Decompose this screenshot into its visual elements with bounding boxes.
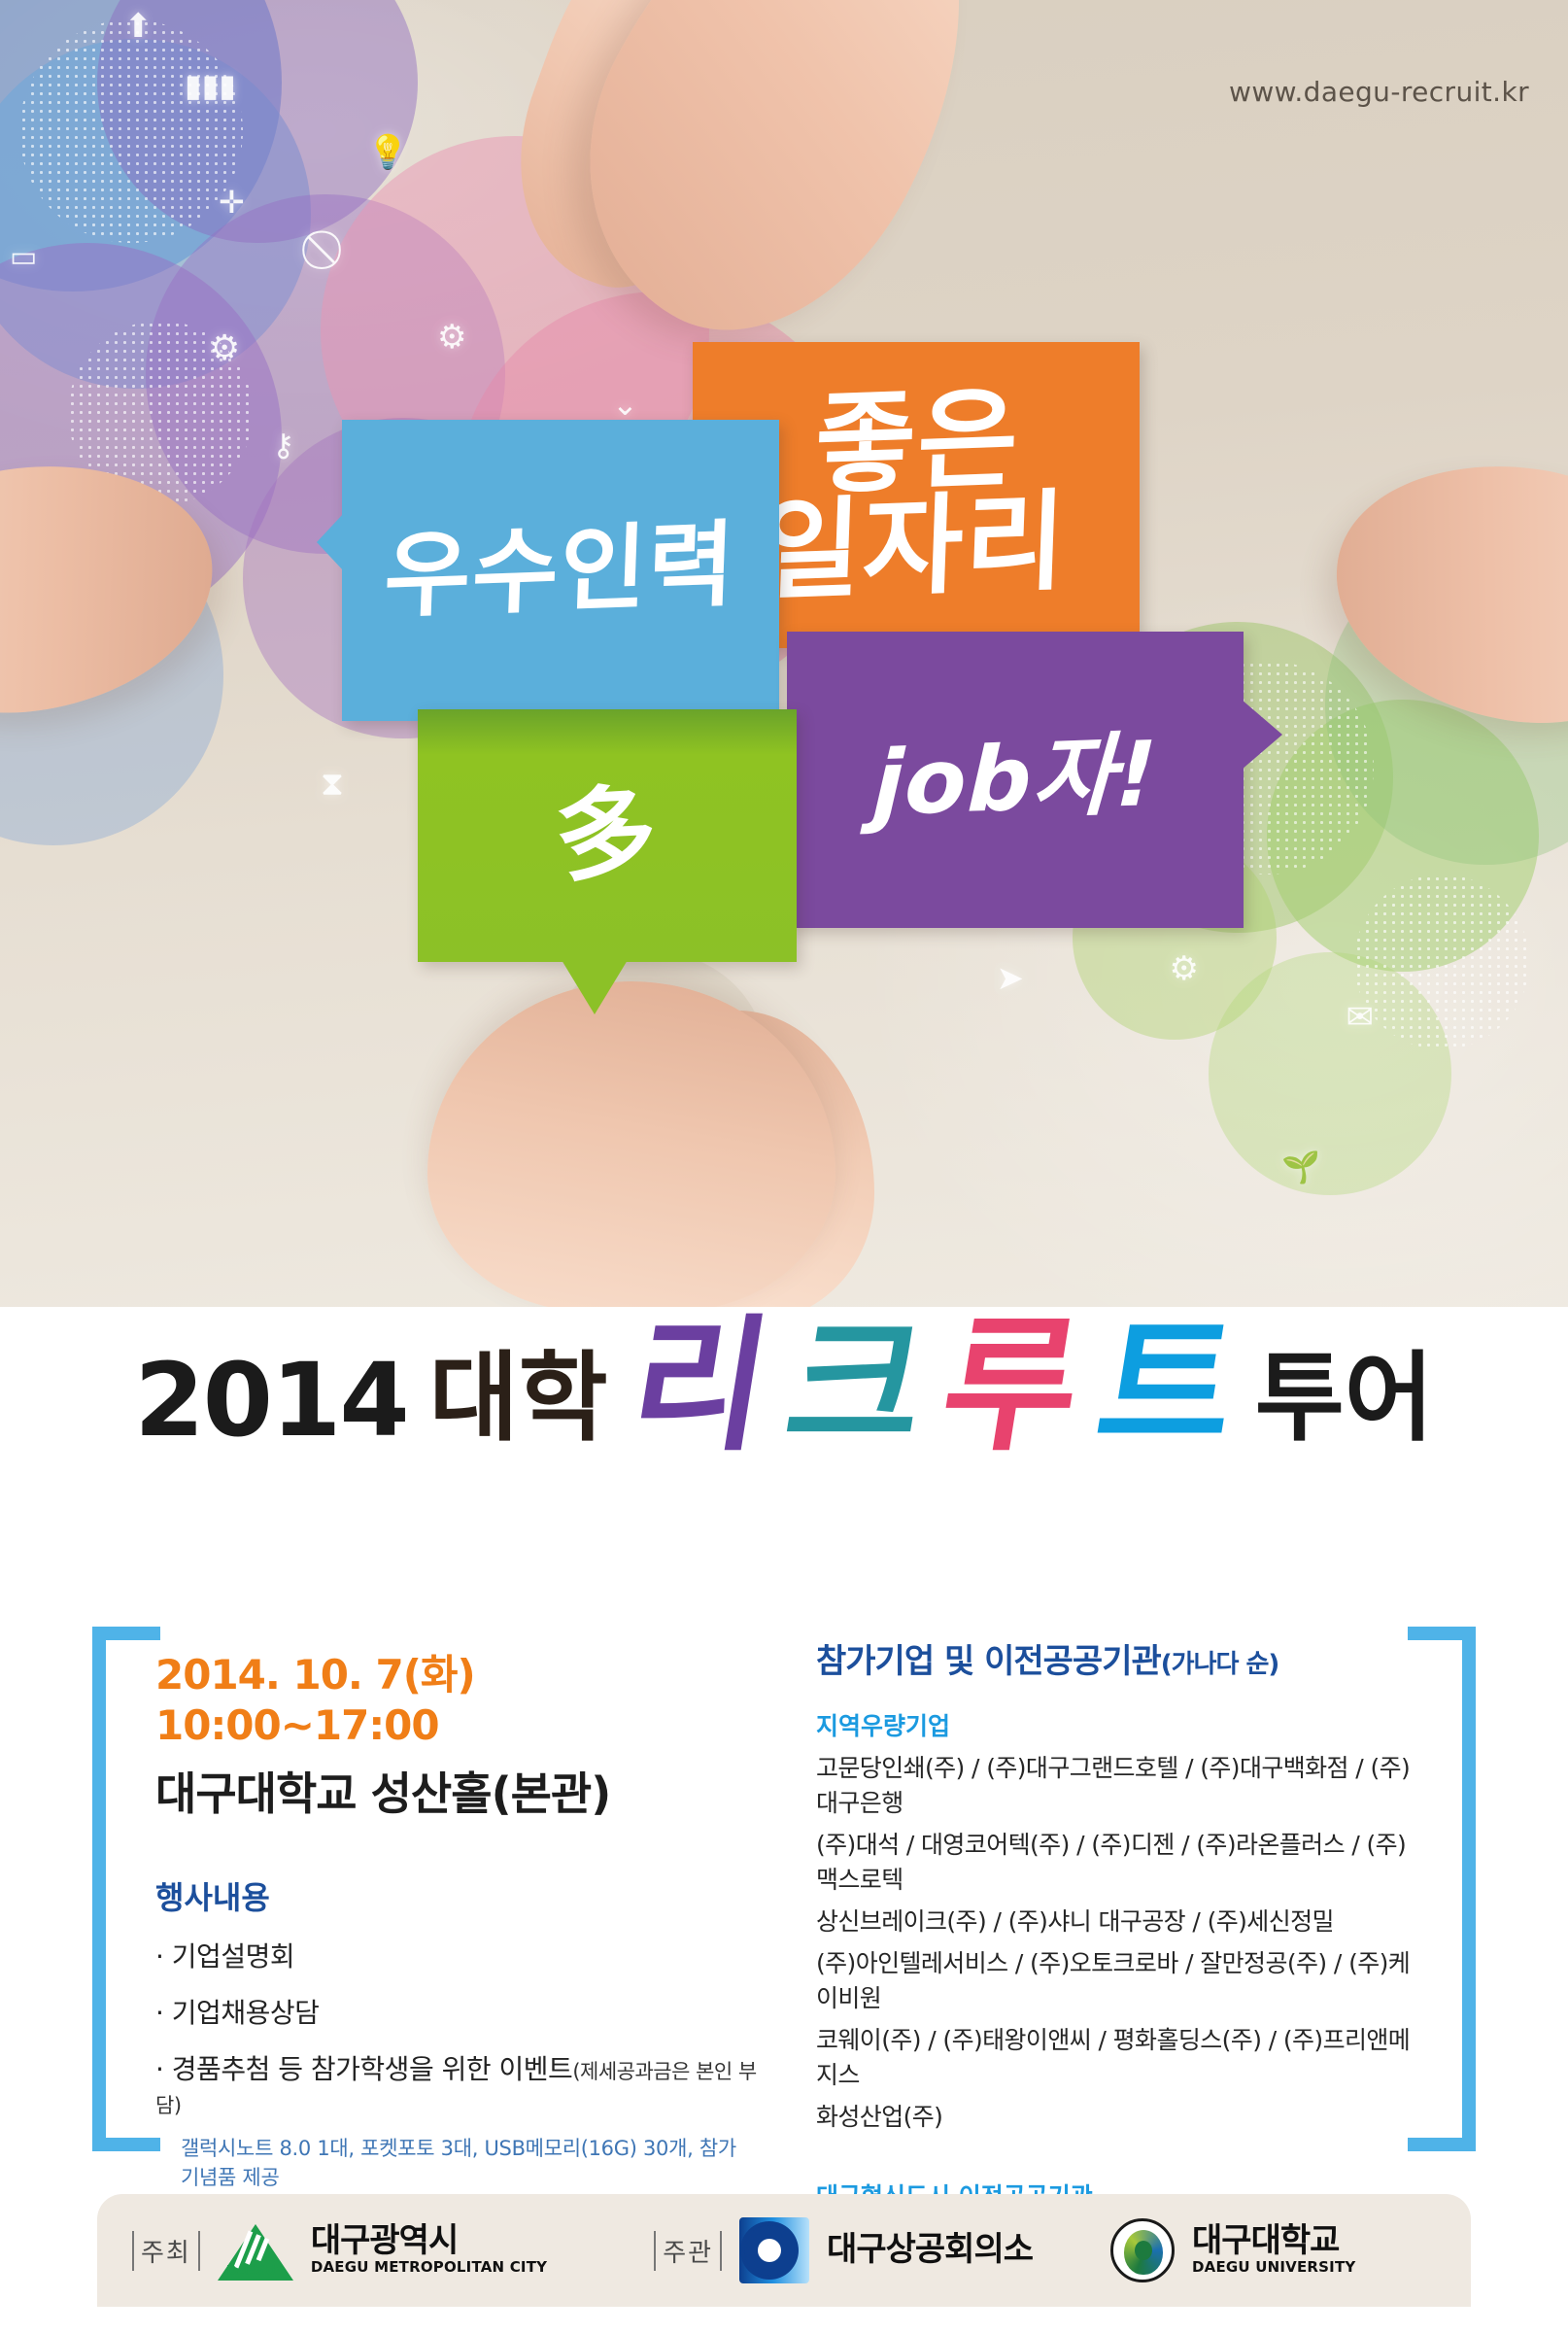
program-item-text: · 경품추첨 등 참가학생을 위한 이벤트 [155,2053,572,2085]
organizer-tag: 주관 [654,2231,722,2271]
prize-list: 갤럭시노트 8.0 1대, 포켓포토 3대, USB메모리(16G) 30개, … [181,2133,758,2191]
arrows-move-icon: ✛ [219,187,245,218]
university-name: 대구대학교 DAEGU UNIVERSITY [1192,2224,1355,2278]
program-heading: 행사내용 [155,1873,758,1918]
host-tag: 주최 [132,2231,200,2271]
host-group: 주최 DAEGU 대구광역시 DAEGU METROPOLITAN CITY [132,2220,547,2281]
battery-icon: ▭ [10,243,37,272]
title-tour: 투어 [1255,1319,1434,1459]
speech-bubble-purple: job자! [787,632,1244,928]
host-name-en: DAEGU METROPOLITAN CITY [311,2258,547,2276]
participants-heading-note: (가나다 순) [1161,1650,1279,1679]
speech-bubble-orange-text: 좋은 일자리 [759,386,1073,605]
gear-icon: ⚙ [209,330,240,365]
organizer-group: 주관 대구상공회의소 [654,2217,1033,2283]
mail-icon: ✉ [1346,1001,1375,1034]
organizer-name: 대구상공회의소 [827,2233,1033,2268]
hero-section: ⬆ ▮▮▮ 💡 ✛ ▭ ⃠ ⚙ ⚙ ⚷ ⌄ ⧗ ➤ ⚙ ✉ 🌱 www.daeg… [0,0,1568,1307]
bracket-left [92,1627,160,2151]
chevron-down-circle-icon: ⌄ [612,389,638,420]
company-group-title: 지역우량기업 [816,1707,1418,1742]
website-url[interactable]: www.daegu-recruit.kr [1229,76,1529,108]
title-char-4: 트 [1088,1314,1242,1459]
play-arrow-icon: ➤ [997,962,1025,995]
halftone-dots [1354,875,1529,1049]
leaf-icon: 🌱 [1281,1151,1320,1183]
company-line: 코웨이(주) / (주)태왕이앤씨 / 평화홀딩스(주) / (주)프리앤메지스 [816,2021,1418,2091]
sponsor-footer: 주최 DAEGU 대구광역시 DAEGU METROPOLITAN CITY 주… [97,2194,1471,2307]
gear-icon: ⚙ [437,321,466,354]
host-name-ko: 대구광역시 [311,2221,458,2260]
gear-icon: ⚙ [1170,952,1199,985]
company-line: 상신브레이크(주) / (주)샤니 대구공장 / (주)세신정밀 [816,1903,1418,1938]
poster-title: 2014 대학 리 크 루 트 투어 [0,1314,1568,1508]
hourglass-icon: ⧗ [321,768,344,801]
participants-heading: 참가기업 및 이전공공기관(가나다 순) [816,1634,1418,1682]
daegu-city-logo-icon: DAEGU [218,2220,293,2281]
title-univ: 대학 [429,1319,608,1459]
bar-chart-icon: ▮▮▮ [185,70,236,101]
chamber-of-commerce-logo-icon [739,2217,809,2283]
event-venue: 대구대학교 성산홀(본관) [155,1759,758,1823]
company-line: (주)대석 / 대영코어텍(주) / (주)디젠 / (주)라온플러스 / (주… [816,1826,1418,1896]
company-line: 화성산업(주) [816,2098,1418,2133]
info-column-left: 2014. 10. 7(화) 10:00~17:00 대구대학교 성산홀(본관)… [155,1642,758,2272]
key-icon: ⚷ [272,429,294,461]
program-item-text: · 기업설명회 [155,1940,294,1973]
title-char-2: 크 [777,1314,931,1459]
university-name-ko: 대구대학교 [1192,2221,1339,2260]
university-name-en: DAEGU UNIVERSITY [1192,2258,1355,2276]
info-panel: 2014. 10. 7(화) 10:00~17:00 대구대학교 성산홀(본관)… [0,1613,1568,2186]
speech-bubble-green-text: 多 [553,784,661,886]
participants-heading-main: 참가기업 및 이전공공기관 [816,1642,1161,1681]
event-date: 2014. 10. 7(화) 10:00~17:00 [155,1642,758,1749]
company-line: 고문당인쇄(주) / (주)대구그랜드호텔 / (주)대구백화점 / (주)대구… [816,1749,1418,1819]
program-item: · 기업설명회 [155,1936,758,1974]
speech-bubble-green: 多 [418,709,797,962]
program-item-text: · 기업채용상담 [155,1997,319,2029]
university-group: 대구대학교 DAEGU UNIVERSITY [1110,2218,1355,2282]
program-item: · 기업채용상담 [155,1992,758,2031]
info-column-right: 참가기업 및 이전공공기관(가나다 순) 지역우량기업 고문당인쇄(주) / (… [816,1634,1418,2254]
title-char-3: 루 [933,1314,1086,1459]
speech-bubble-purple-text: job자! [871,732,1159,827]
company-line: (주)아인텔레서비스 / (주)오토크로바 / 잘만정공(주) / (주)케이비… [816,1944,1418,2014]
title-year: 2014 [134,1341,407,1459]
host-name: 대구광역시 DAEGU METROPOLITAN CITY [311,2224,547,2278]
halftone-dots [19,19,243,243]
arrow-up-icon: ⬆ [124,10,153,43]
daegu-university-logo-icon [1110,2218,1175,2282]
program-item: · 경품추첨 등 참가학생을 위한 이벤트(제세공과금은 본인 부담) [155,2048,758,2119]
speech-bubble-blue: 우수인력 [342,420,779,721]
lightbulb-icon: 💡 [367,136,408,169]
poster: ⬆ ▮▮▮ 💡 ✛ ▭ ⃠ ⚙ ⚙ ⚷ ⌄ ⧗ ➤ ⚙ ✉ 🌱 www.daeg… [0,0,1568,2333]
speech-bubble-blue-text: 우수인력 [383,520,737,622]
title-char-1: 리 [622,1314,775,1459]
daegu-logo-label: DAEGU [226,2264,276,2279]
